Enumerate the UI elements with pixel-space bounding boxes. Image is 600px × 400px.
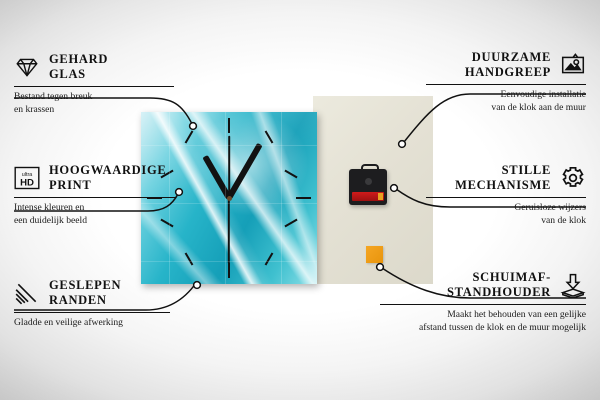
feature-geslepen-randen: GESLEPENRANDEN Gladde en veilige afwerki… (14, 278, 170, 330)
clock-minute-hand (226, 143, 262, 200)
clock-tick (228, 263, 230, 278)
feature-rule (426, 197, 586, 198)
clock-tick (284, 219, 297, 228)
feature-rule (426, 84, 586, 85)
clock-second-hand (228, 198, 230, 264)
clock-tick (284, 170, 297, 179)
diagonal-lines-icon (14, 280, 40, 306)
feature-description: Bestand tegen breuken krassen (14, 91, 174, 116)
feature-title: HOOGWAARDIGEPRINT (49, 163, 166, 194)
feature-title: GEHARDGLAS (49, 52, 108, 83)
feature-description: Gladde en veilige afwerking (14, 317, 170, 330)
picture-frame-icon (560, 52, 586, 78)
foam-spacer (366, 246, 383, 263)
feature-hoogwaardige-print: ultra HD HOOGWAARDIGEPRINT Intense kleur… (14, 163, 176, 227)
clock-tick (185, 130, 194, 143)
feature-title: GESLEPENRANDEN (49, 278, 121, 309)
feature-rule (380, 304, 586, 305)
clock-center-hub (227, 196, 232, 201)
svg-text:HD: HD (20, 178, 34, 189)
feature-title: DUURZAMEHANDGREEP (465, 50, 551, 81)
feature-title: STILLEMECHANISME (455, 163, 551, 194)
ultra-hd-icon: ultra HD (14, 165, 40, 191)
mechanism-battery (352, 192, 384, 201)
clock-second-hand-tail (228, 136, 230, 198)
feature-rule (14, 197, 176, 198)
clock-tick (265, 252, 274, 265)
gear-icon (560, 165, 586, 191)
mechanism-shaft (365, 178, 372, 185)
feature-description: Eenvoudige installatievan de klok aan de… (426, 89, 586, 114)
feature-rule (14, 86, 174, 87)
clock-tick (296, 197, 311, 199)
clock-mechanism (349, 169, 387, 205)
diamond-icon (14, 54, 40, 80)
feature-rule (14, 312, 170, 313)
battery-plus-terminal (378, 193, 383, 200)
down-arrow-pad-icon (560, 272, 586, 298)
mechanism-hanger (361, 164, 379, 174)
feature-description: Geruisloze wijzersvan de klok (426, 202, 586, 227)
clock-tick (228, 118, 230, 133)
infographic-canvas: GEHARDGLAS Bestand tegen breuken krassen… (0, 0, 600, 400)
feature-title: SCHUIMAF-STANDHOUDER (447, 270, 551, 301)
clock-tick (185, 252, 194, 265)
feature-description: Maakt het behouden van een gelijkeafstan… (380, 309, 586, 334)
feature-description: Intense kleuren eneen duidelijk beeld (14, 202, 176, 227)
feature-stille-mechanisme: STILLEMECHANISME Geruisloze wijzersvan d… (426, 163, 586, 227)
feature-gehard-glas: GEHARDGLAS Bestand tegen breuken krassen (14, 52, 174, 116)
clock-hour-hand (202, 155, 231, 200)
feature-schuimafstandhouder: SCHUIMAF-STANDHOUDER Maakt het behouden … (380, 270, 586, 334)
feature-duurzame-handgreep: DUURZAMEHANDGREEP Eenvoudige installatie… (426, 50, 586, 114)
clock-tick (265, 130, 274, 143)
